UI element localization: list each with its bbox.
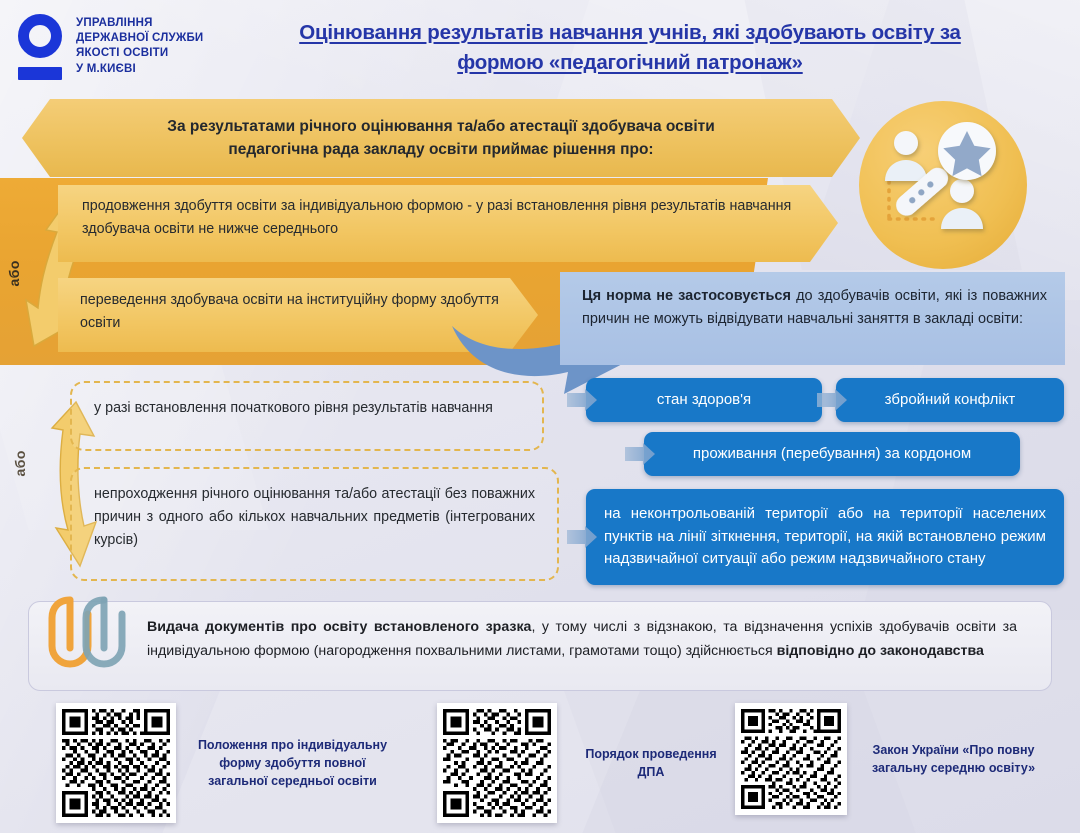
chip-label: збройний конфлікт [869,389,1032,412]
exception-chip-abroad[interactable]: проживання (перебування) за кордоном [644,432,1020,476]
qr-item-law[interactable]: Закон України «Про повну загальну середн… [735,703,1046,815]
condition-box-2: непроходження річного оцінювання та/або … [70,467,559,581]
condition-2-text: непроходження річного оцінювання та/або … [72,469,557,566]
decision-item-1-text: продовження здобуття освіти за індивідуа… [58,185,838,241]
documents-note: Видача документів про освіту встановлено… [28,601,1052,691]
qr-code-icon[interactable] [735,703,847,815]
chip-label: стан здоров'я [641,389,767,412]
people-star-chart-icon [855,97,1031,273]
page-title-line-1: Оцінювання результатів навчання учнів, я… [299,21,961,44]
note-bold-lead: Видача документів про освіту встановлено… [147,619,531,635]
organization-logo: УПРАВЛІННЯ ДЕРЖАВНОЇ СЛУЖБИ ЯКОСТІ ОСВІТ… [18,14,203,80]
qr-label: Закон України «Про повну загальну середн… [861,741,1046,777]
or-label-2: або [12,450,34,477]
qr-label: Положення про індивідуальну форму здобут… [190,736,395,790]
exception-bold-lead: Ця норма не застосовується [582,288,791,304]
qr-label: Порядок проведення ДПА [571,745,731,781]
org-line: У М.КИЄВІ [76,62,203,77]
banner-line-1: За результатами річного оцінювання та/аб… [167,118,715,135]
decision-item-1: продовження здобуття освіти за індивідуа… [58,185,838,262]
qr-item-dpa[interactable]: Порядок проведення ДПА [437,703,731,823]
qr-code-icon[interactable] [437,703,557,823]
chip-label: проживання (перебування) за кордоном [677,443,987,466]
org-line: ДЕРЖАВНОЇ СЛУЖБИ [76,31,203,46]
organization-name: УПРАВЛІННЯ ДЕРЖАВНОЇ СЛУЖБИ ЯКОСТІ ОСВІТ… [76,14,203,77]
qr-code-icon[interactable] [56,703,176,823]
org-line: ЯКОСТІ ОСВІТИ [76,46,203,61]
decision-banner: За результатами річного оцінювання та/аб… [22,99,860,177]
exception-chip-territory[interactable]: на неконтрольованій території або на тер… [586,489,1064,585]
note-bold-tail: відповідно до законодавства [777,643,984,659]
exception-note: Ця норма не застосовується до здобувачів… [560,272,1065,365]
qr-item-regulation[interactable]: Положення про індивідуальну форму здобут… [56,703,395,823]
logo-bar-icon [18,67,62,80]
chip-label: на неконтрольованій території або на тер… [586,503,1064,571]
logo-ring-icon [18,14,62,58]
paperclips-icon [42,594,138,670]
banner-line-2: педагогічна рада закладу освіти приймає … [228,141,653,158]
exception-chip-health[interactable]: стан здоров'я [586,378,822,422]
page-title: Оцінювання результатів навчання учнів, я… [235,18,1025,78]
exception-chip-armed-conflict[interactable]: збройний конфлікт [836,378,1064,422]
logo-mark-icon [18,14,65,80]
infographic-canvas: УПРАВЛІННЯ ДЕРЖАВНОЇ СЛУЖБИ ЯКОСТІ ОСВІТ… [0,0,1080,833]
page-title-line-2: формою «педагогічний патронаж» [457,51,802,74]
chip-arrow-icon [625,443,655,465]
org-line: УПРАВЛІННЯ [76,16,203,31]
